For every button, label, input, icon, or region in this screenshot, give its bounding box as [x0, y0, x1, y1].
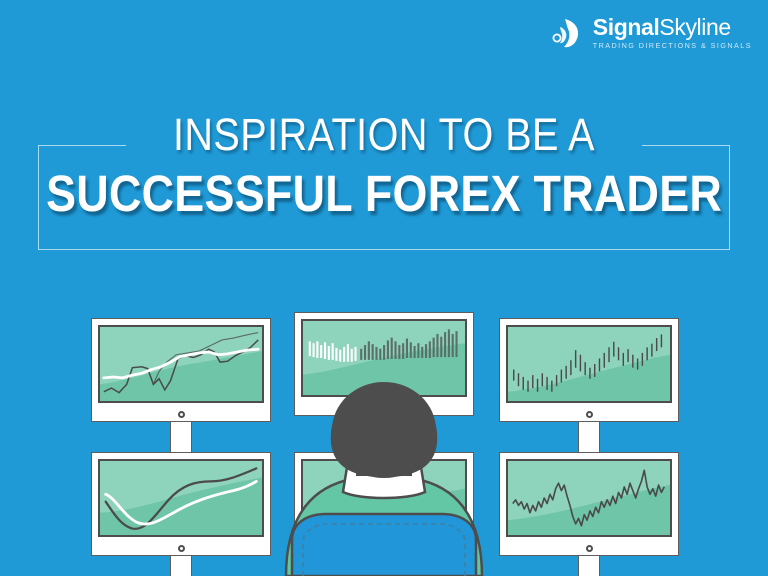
- trader-illustration: [0, 0, 768, 576]
- signal-wave-icon: [551, 16, 585, 50]
- brand-logo[interactable]: SignalSkyline TRADING DIRECTIONS & SIGNA…: [551, 11, 752, 55]
- chair-back: [292, 514, 476, 576]
- headline: INSPIRATION TO BE A SUCCESSFUL FOREX TRA…: [0, 112, 768, 219]
- brand-wordmark: SignalSkyline TRADING DIRECTIONS & SIGNA…: [593, 16, 752, 49]
- trader-figure: [0, 0, 768, 576]
- brand-name-part1: Signal: [593, 14, 660, 40]
- signal-wave-glyph: [551, 16, 585, 50]
- brand-name-part2: Skyline: [659, 14, 730, 40]
- head-crown: [332, 382, 436, 478]
- brand-tagline: TRADING DIRECTIONS & SIGNALS: [593, 42, 752, 49]
- headline-line-1: INSPIRATION TO BE A: [46, 112, 722, 157]
- headline-line-2: SUCCESSFUL FOREX TRADER: [46, 168, 722, 219]
- brand-name: SignalSkyline: [593, 16, 752, 39]
- poster-canvas: INSPIRATION TO BE A SUCCESSFUL FOREX TRA…: [0, 0, 768, 576]
